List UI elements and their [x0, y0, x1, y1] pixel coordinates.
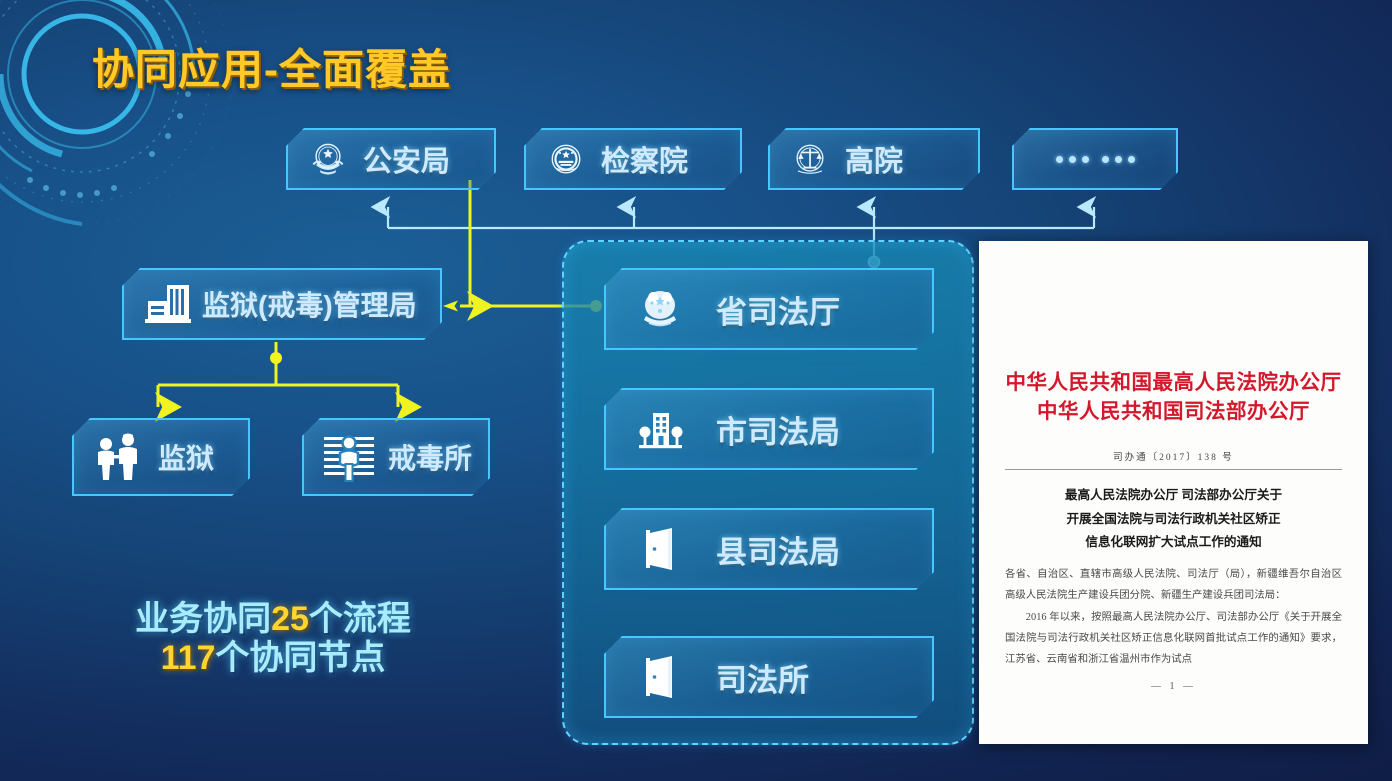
ellipsis-dots-icon — [1014, 156, 1176, 163]
open-door-icon — [632, 649, 688, 705]
center-box-justice-office[interactable]: 司法所 — [604, 636, 934, 718]
stats-block: 业务协同25个流程 117个协同节点 — [108, 600, 438, 679]
center-box-label: 市司法局 — [716, 407, 840, 452]
document-paragraph-2: 2016 年以来，按照最高人民法院办公厅、司法部办公厅《关于开展全国法院与司法行… — [1005, 607, 1342, 671]
red-header-line-1: 中华人民共和国最高人民法院办公厅 — [979, 369, 1368, 398]
stats-line2-number: 117 — [161, 639, 216, 677]
top-box-public-security[interactable]: 公安局 — [286, 128, 496, 190]
document-title-line-3: 信息化联网扩大试点工作的通知 — [1009, 531, 1338, 554]
document-title-line-2: 开展全国法院与司法行政机关社区矫正 — [1009, 508, 1338, 531]
guard-and-inmate-icon — [90, 431, 148, 483]
stats-line2-suffix: 个协同节点 — [215, 639, 385, 677]
justice-emblem-icon — [632, 281, 688, 337]
top-box-label: 检察院 — [601, 138, 688, 180]
left-leaf-label: 戒毒所 — [388, 437, 472, 477]
stats-line1-suffix: 个流程 — [309, 600, 411, 638]
stats-line-1: 业务协同25个流程 — [108, 600, 438, 639]
procuratorate-emblem-icon — [544, 137, 588, 181]
document-title: 最高人民法院办公厅 司法部办公厅关于 开展全国法院与司法行政机关社区矫正 信息化… — [1009, 484, 1338, 554]
top-box-label: 公安局 — [363, 138, 450, 180]
document-page-marker: — 1 — — [979, 681, 1368, 692]
slide-canvas: 协同应用-全面覆盖 — [0, 0, 1392, 781]
left-leaf-label: 监狱 — [158, 437, 214, 477]
open-door-icon — [632, 521, 688, 577]
center-box-label: 县司法局 — [716, 527, 840, 572]
left-leaf-rehab-center[interactable]: 戒毒所 — [302, 418, 490, 496]
center-box-municipal-justice-bureau[interactable]: 市司法局 — [604, 388, 934, 470]
document-body: 各省、自治区、直辖市高级人民法院、司法厅（局），新疆维吾尔自治区高级人民法院生产… — [1005, 564, 1342, 671]
police-emblem-icon — [306, 137, 350, 181]
official-document-image: 中华人民共和国最高人民法院办公厅 中华人民共和国司法部办公厅 司办通〔2017〕… — [979, 241, 1368, 744]
prison-building-icon — [142, 281, 194, 327]
top-box-label: 高院 — [845, 138, 903, 180]
document-divider — [1005, 469, 1342, 470]
red-header-line-2: 中华人民共和国司法部办公厅 — [979, 398, 1368, 427]
page-title: 协同应用-全面覆盖 — [92, 36, 451, 97]
document-red-header: 中华人民共和国最高人民法院办公厅 中华人民共和国司法部办公厅 — [979, 369, 1368, 427]
center-box-county-justice-bureau[interactable]: 县司法局 — [604, 508, 934, 590]
top-box-more[interactable] — [1012, 128, 1178, 190]
court-emblem-icon — [788, 137, 832, 181]
center-box-label: 省司法厅 — [716, 287, 840, 332]
document-title-line-1: 最高人民法院办公厅 司法部办公厅关于 — [1009, 484, 1338, 507]
left-box-prison-rehab-admin[interactable]: 监狱(戒毒)管理局 — [122, 268, 442, 340]
left-leaf-prison[interactable]: 监狱 — [72, 418, 250, 496]
top-box-high-court[interactable]: 高院 — [768, 128, 980, 190]
document-paragraph-1: 各省、自治区、直辖市高级人民法院、司法厅（局），新疆维吾尔自治区高级人民法院生产… — [1005, 564, 1342, 607]
center-box-provincial-justice-dept[interactable]: 省司法厅 — [604, 268, 934, 350]
center-box-label: 司法所 — [716, 655, 809, 700]
stats-line-2: 117个协同节点 — [108, 639, 438, 678]
top-box-procuratorate[interactable]: 检察院 — [524, 128, 742, 190]
office-building-icon — [632, 401, 688, 457]
left-box-label: 监狱(戒毒)管理局 — [202, 284, 417, 324]
document-number: 司办通〔2017〕138 号 — [979, 449, 1368, 463]
stats-line1-prefix: 业务协同 — [135, 600, 271, 638]
stats-line1-number: 25 — [271, 600, 309, 638]
person-behind-bars-icon — [320, 431, 378, 483]
